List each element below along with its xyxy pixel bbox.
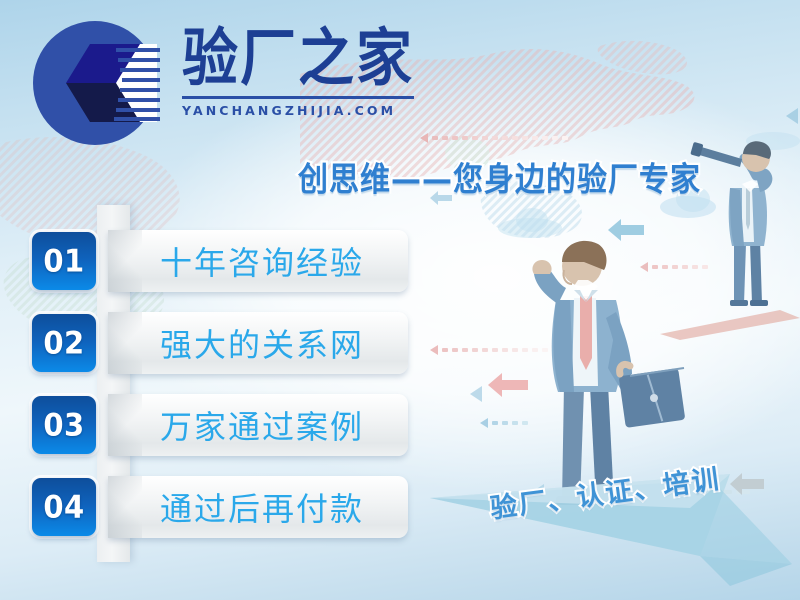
feature-number: 02	[43, 325, 84, 361]
brand-name-en: YANCHANGZHIJIA.COM	[182, 103, 422, 118]
slide-canvas: 验厂之家 YANCHANGZHIJIA.COM 创思维——您身边的验厂专家 十年…	[0, 0, 800, 600]
dashed-arrow-left-icon	[430, 345, 548, 355]
ground-shadow-icon	[660, 300, 800, 340]
dashed-arrow-left-icon	[640, 262, 708, 272]
page-tagline: 创思维——您身边的验厂专家	[298, 152, 718, 200]
feature-plate[interactable]: 万家通过案例	[108, 394, 408, 456]
arrow-left-small-icon	[470, 386, 482, 406]
cloud-icon	[746, 132, 800, 150]
brand-logo[interactable]: 验厂之家 YANCHANGZHIJIA.COM	[22, 10, 422, 145]
brand-rule	[182, 96, 414, 99]
feature-label: 万家通过案例	[160, 402, 364, 448]
arrow-left-icon	[608, 218, 644, 246]
feature-plate[interactable]: 强大的关系网	[108, 312, 408, 374]
feature-number: 03	[43, 407, 84, 443]
feature-number-badge: 03	[32, 396, 96, 454]
arrow-left-small-icon	[786, 108, 798, 128]
feature-label: 通过后再付款	[160, 484, 364, 530]
feature-number: 04	[43, 489, 84, 525]
dashed-arrow-left-icon	[420, 133, 568, 143]
feature-label: 强大的关系网	[160, 320, 364, 366]
brand-wordmark: 验厂之家 YANCHANGZHIJIA.COM	[182, 28, 422, 118]
hexagon-cube-logo-icon	[30, 18, 160, 148]
cloud-icon	[516, 208, 548, 232]
paper-plane-ribbon-icon	[400, 436, 800, 600]
feature-number-badge: 01	[32, 232, 96, 290]
feature-number: 01	[43, 243, 84, 279]
brand-name-cn: 验厂之家	[182, 28, 422, 91]
feature-number-badge: 02	[32, 314, 96, 372]
feature-plate[interactable]: 十年咨询经验	[108, 230, 408, 292]
arrow-left-icon	[488, 372, 528, 402]
footer-slogan: 验厂、认证、培训	[487, 457, 722, 526]
arrow-left-icon	[730, 472, 764, 500]
feature-number-badge: 04	[32, 478, 96, 536]
feature-plate[interactable]: 通过后再付款	[108, 476, 408, 538]
feature-label: 十年咨询经验	[160, 238, 364, 284]
dashed-arrow-left-blue-icon	[480, 418, 528, 428]
